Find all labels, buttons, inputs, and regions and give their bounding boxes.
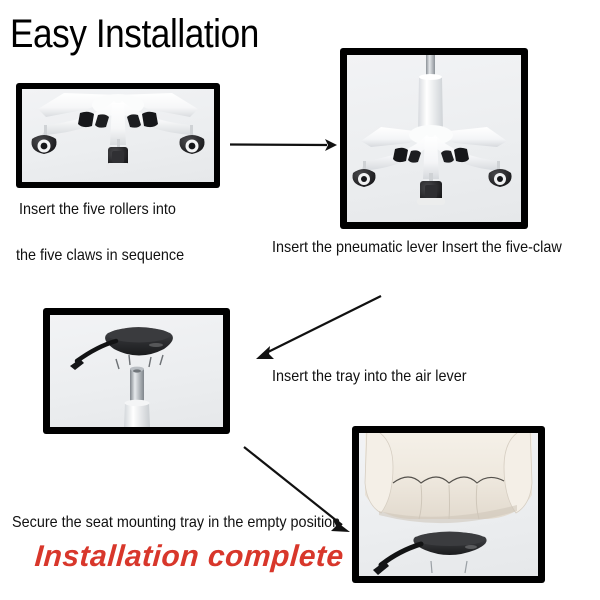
step-2-photo xyxy=(340,48,528,229)
step-1-photo-inner xyxy=(22,89,214,182)
finished-chair-illustration xyxy=(359,433,538,576)
step-4-photo xyxy=(352,426,545,583)
page-title: Easy Installation xyxy=(10,13,259,55)
chair-seat-icon xyxy=(365,433,532,523)
step-4-photo-inner xyxy=(359,433,538,576)
arrow-step2-to-step3 xyxy=(256,296,381,359)
alignment-marks xyxy=(431,561,467,573)
arrow-step1-to-step2 xyxy=(230,139,337,151)
step-1-caption-line1: Insert the five rollers into xyxy=(19,200,176,220)
tilt-lever-handle xyxy=(373,544,421,575)
tilt-lever-handle xyxy=(70,341,116,370)
seat-tray-icon xyxy=(413,532,486,556)
step-1-caption-line2: the five claws in sequence xyxy=(16,246,184,266)
step-1-photo xyxy=(16,83,220,188)
pneumatic-lever-on-base-illustration xyxy=(347,55,521,222)
caster-wheel-center xyxy=(106,139,130,169)
seat-tray-and-lever-illustration xyxy=(50,315,223,427)
step-3-caption: Insert the tray into the air lever xyxy=(272,367,466,387)
step-2-photo-inner xyxy=(347,55,521,222)
step-2-caption: Insert the pneumatic lever Insert the fi… xyxy=(272,238,562,258)
installation-infographic: Easy Installation xyxy=(0,0,600,600)
step-4-caption: Secure the seat mounting tray in the emp… xyxy=(12,513,340,533)
five-claw-base-illustration xyxy=(22,89,214,182)
step-3-photo xyxy=(43,308,230,434)
installation-complete-text: Installation complete xyxy=(34,540,345,574)
caster-wheel-center xyxy=(417,173,445,205)
gas-cylinder-icon xyxy=(124,367,150,427)
step-3-photo-inner xyxy=(50,315,223,427)
